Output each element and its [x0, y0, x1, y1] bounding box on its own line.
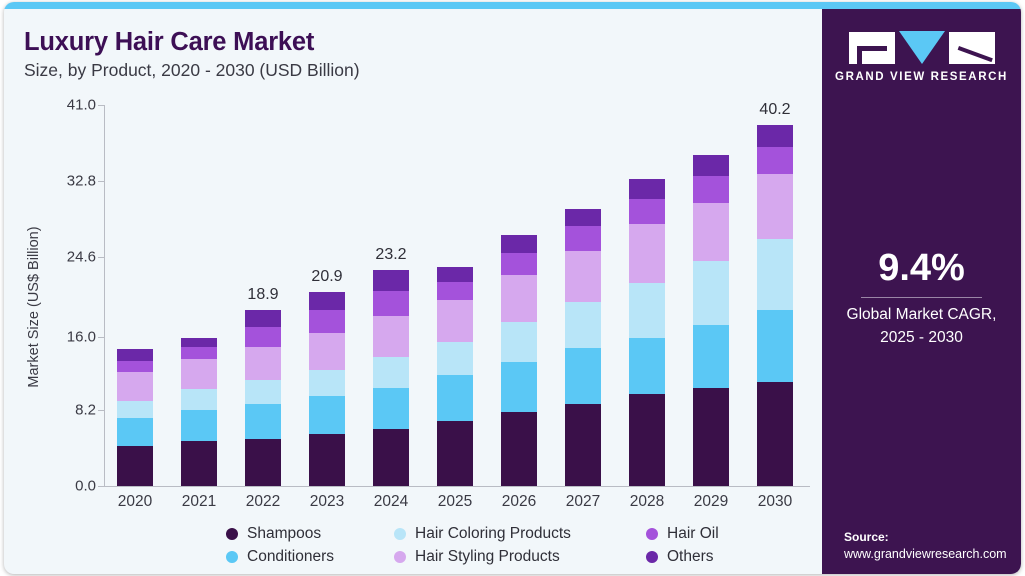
bar-segment[interactable]: [629, 179, 665, 199]
bar-segment[interactable]: [309, 292, 345, 311]
bar-value-label: 18.9: [223, 286, 303, 304]
bar-segment[interactable]: [245, 404, 281, 438]
bar-segment[interactable]: [757, 382, 793, 486]
bar-segment[interactable]: [437, 421, 473, 486]
legend-label: Hair Styling Products: [415, 548, 560, 566]
chart-card: Luxury Hair Care Market Size, by Product…: [4, 2, 1021, 574]
bar-segment[interactable]: [629, 199, 665, 224]
bar-segment[interactable]: [245, 310, 281, 327]
bar-segment[interactable]: [693, 325, 729, 388]
legend-item[interactable]: Others: [646, 546, 714, 568]
bar-segment[interactable]: [437, 282, 473, 301]
legend-item[interactable]: Hair Coloring Products: [394, 523, 571, 545]
bar-value-label: 40.2: [735, 101, 815, 119]
bar-segment[interactable]: [565, 226, 601, 251]
bar-segment[interactable]: [501, 253, 537, 275]
legend-swatch-icon: [394, 551, 406, 563]
legend-item[interactable]: Hair Styling Products: [394, 546, 560, 568]
y-axis-tick-mark: [98, 337, 104, 338]
bar-segment[interactable]: [437, 342, 473, 375]
bar-segment[interactable]: [437, 267, 473, 282]
y-axis-tick-label: 41.0: [32, 97, 96, 114]
grand-view-research-logo-icon: [822, 31, 1021, 64]
bar-segment[interactable]: [437, 375, 473, 421]
chart-region: Luxury Hair Care Market Size, by Product…: [4, 9, 822, 574]
bar-segment[interactable]: [117, 372, 153, 402]
legend-swatch-icon: [226, 528, 238, 540]
bar-segment[interactable]: [181, 441, 217, 486]
bar-value-label: 23.2: [351, 246, 431, 264]
legend-label: Hair Coloring Products: [415, 525, 571, 543]
bar-segment[interactable]: [309, 434, 345, 486]
logo-r-block: [949, 32, 995, 64]
bar-segment[interactable]: [757, 147, 793, 174]
y-axis-tick-label: 32.8: [32, 173, 96, 190]
page-subtitle: Size, by Product, 2020 - 2030 (USD Billi…: [24, 60, 360, 81]
bar-segment[interactable]: [373, 388, 409, 430]
bar-segment[interactable]: [501, 235, 537, 253]
bar-segment[interactable]: [117, 446, 153, 486]
bar-segment[interactable]: [693, 155, 729, 175]
accent-top-bar: [4, 2, 1021, 9]
bar-segment[interactable]: [757, 125, 793, 146]
cagr-divider: [861, 297, 982, 298]
y-axis-tick-label: 8.2: [32, 401, 96, 418]
plot-area: 18.920.923.240.2: [105, 105, 811, 486]
bar-segment[interactable]: [693, 176, 729, 203]
legend-swatch-icon: [646, 551, 658, 563]
source-label: Source:: [844, 530, 889, 544]
bar-segment[interactable]: [501, 322, 537, 363]
bar-segment[interactable]: [309, 370, 345, 396]
bar-segment[interactable]: [373, 316, 409, 357]
bar-segment[interactable]: [309, 333, 345, 370]
cagr-value: 9.4%: [822, 247, 1021, 290]
legend-swatch-icon: [226, 551, 238, 563]
bar-segment[interactable]: [501, 412, 537, 486]
bar-segment[interactable]: [117, 401, 153, 418]
bar-segment[interactable]: [245, 347, 281, 380]
bar-segment[interactable]: [117, 361, 153, 371]
page-title: Luxury Hair Care Market: [24, 28, 314, 57]
x-axis-line: [104, 486, 810, 487]
bar-segment[interactable]: [629, 224, 665, 283]
bar-segment[interactable]: [245, 327, 281, 347]
bar-segment[interactable]: [693, 203, 729, 262]
bar-segment[interactable]: [437, 300, 473, 342]
bar-segment[interactable]: [565, 404, 601, 486]
bar-segment[interactable]: [629, 338, 665, 394]
y-axis-tick-mark: [98, 181, 104, 182]
cagr-caption-line-1: Global Market CAGR,: [822, 303, 1021, 326]
legend-item[interactable]: Shampoos: [226, 523, 321, 545]
x-axis-tick-label: 2030: [735, 493, 815, 511]
legend-swatch-icon: [394, 528, 406, 540]
bar-segment[interactable]: [757, 239, 793, 311]
source-url[interactable]: www.grandviewresearch.com: [844, 547, 1007, 561]
bar-segment[interactable]: [181, 410, 217, 442]
bar-segment[interactable]: [629, 394, 665, 486]
logo-v-triangle-icon: [899, 31, 945, 64]
bar-segment[interactable]: [373, 429, 409, 486]
logo-g-block: [849, 32, 895, 64]
bar-segment[interactable]: [373, 270, 409, 290]
y-axis-tick-mark: [98, 486, 104, 487]
bar-segment[interactable]: [373, 357, 409, 388]
y-axis-tick-label: 16.0: [32, 329, 96, 346]
legend-swatch-icon: [646, 528, 658, 540]
y-axis-tick-label: 0.0: [32, 478, 96, 495]
bar-segment[interactable]: [693, 388, 729, 486]
y-axis-tick-mark: [98, 410, 104, 411]
bar-segment[interactable]: [117, 349, 153, 361]
legend-label: Others: [667, 548, 714, 566]
cagr-caption: Global Market CAGR, 2025 - 2030: [822, 303, 1021, 349]
bar-segment[interactable]: [181, 338, 217, 346]
bar-value-label: 20.9: [287, 268, 367, 286]
bar-segment[interactable]: [117, 418, 153, 446]
brand-panel: GRAND VIEW RESEARCH 9.4% Global Market C…: [822, 9, 1021, 574]
bar-segment[interactable]: [373, 291, 409, 316]
legend-label: Shampoos: [247, 525, 321, 543]
bar-segment[interactable]: [309, 396, 345, 434]
cagr-caption-line-2: 2025 - 2030: [822, 326, 1021, 349]
bar-segment[interactable]: [501, 275, 537, 321]
bar-segment[interactable]: [693, 261, 729, 325]
y-axis-tick-label: 24.6: [32, 249, 96, 266]
bar-segment[interactable]: [245, 439, 281, 486]
legend-label: Conditioners: [247, 548, 334, 566]
legend-item[interactable]: Conditioners: [226, 546, 334, 568]
bar-segment[interactable]: [309, 310, 345, 332]
bar-segment[interactable]: [757, 174, 793, 239]
bar-segment[interactable]: [629, 283, 665, 339]
legend-item[interactable]: Hair Oil: [646, 523, 719, 545]
bar-segment[interactable]: [565, 348, 601, 405]
bar-segment[interactable]: [757, 310, 793, 382]
logo-wordmark: GRAND VIEW RESEARCH: [822, 71, 1021, 83]
y-axis-tick-mark: [98, 105, 104, 106]
bar-segment[interactable]: [181, 359, 217, 390]
bar-segment[interactable]: [245, 380, 281, 404]
y-axis-tick-mark: [98, 257, 104, 258]
bar-segment[interactable]: [565, 302, 601, 348]
bar-segment[interactable]: [565, 251, 601, 302]
bar-segment[interactable]: [501, 362, 537, 411]
bar-segment[interactable]: [181, 347, 217, 359]
bar-segment[interactable]: [565, 209, 601, 226]
legend-label: Hair Oil: [667, 525, 719, 543]
bar-segment[interactable]: [181, 389, 217, 409]
